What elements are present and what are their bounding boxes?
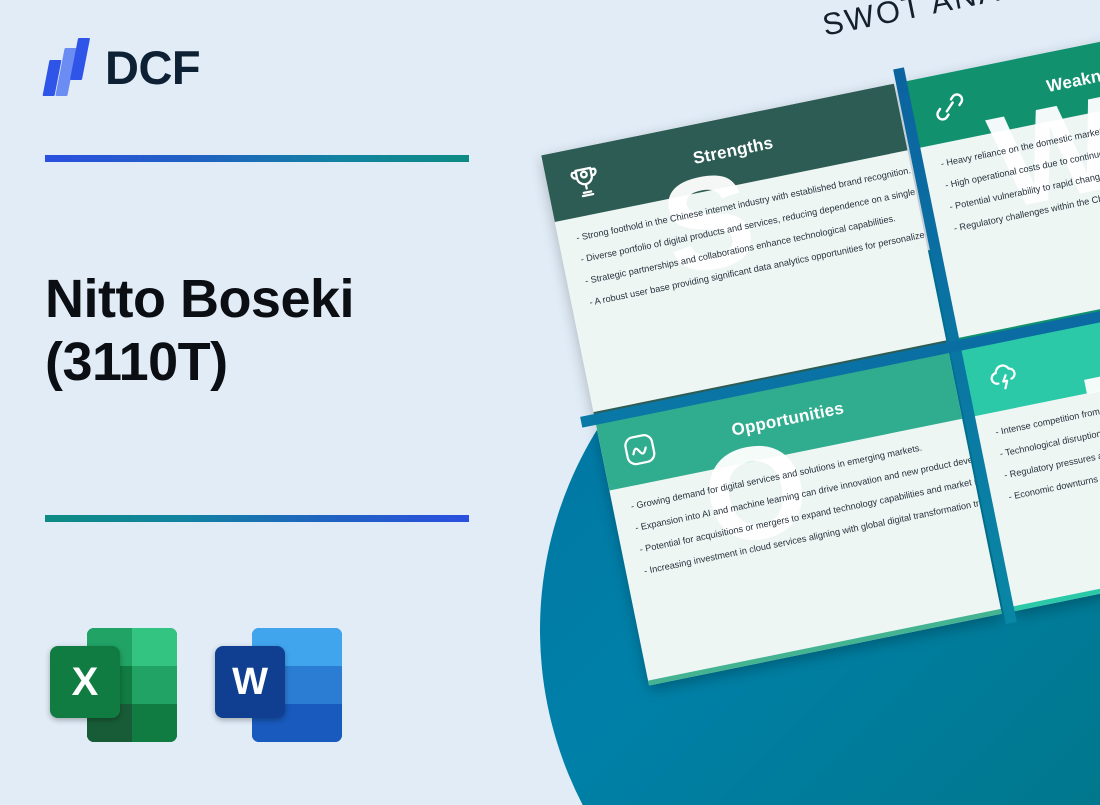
slide-canvas: SWOT ANALYSIS: [0, 0, 1100, 805]
divider-top: [45, 155, 469, 162]
page-title: Nitto Boseki (3110T): [45, 268, 505, 393]
page-title-line-2: (3110T): [45, 331, 505, 394]
storm-cloud-icon: [983, 354, 1025, 396]
trophy-icon: [564, 160, 606, 202]
download-icons: X W: [45, 620, 350, 750]
trend-wave-icon: [619, 428, 661, 470]
broken-link-icon: [929, 86, 971, 128]
word-letter: W: [215, 646, 285, 718]
page-title-line-1: Nitto Boseki: [45, 268, 505, 331]
divider-bottom: [45, 515, 469, 522]
dcf-bars-logo: [45, 38, 91, 96]
word-file-icon[interactable]: W: [210, 620, 350, 750]
left-panel: DCF Nitto Boseki (3110T) X W: [0, 0, 540, 805]
brand-name: DCF: [105, 44, 200, 91]
excel-letter: X: [50, 646, 120, 718]
excel-file-icon[interactable]: X: [45, 620, 185, 750]
dcf-logo[interactable]: DCF: [45, 38, 200, 96]
swot-title: SWOT ANALYSIS: [819, 0, 1098, 44]
